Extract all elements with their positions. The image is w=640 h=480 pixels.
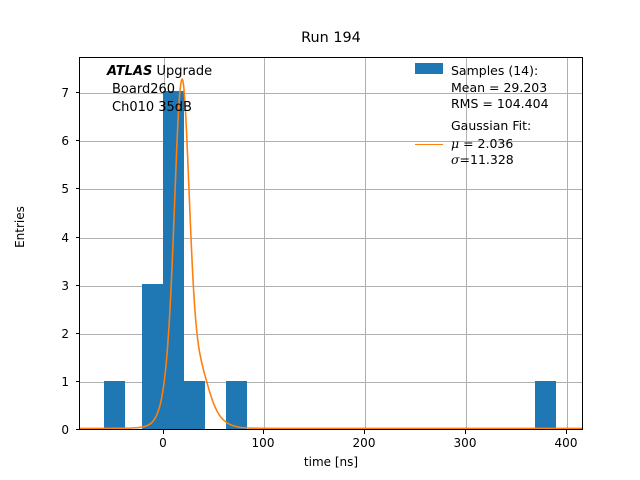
- annotation-channel-label: Ch010 35dB: [107, 99, 212, 117]
- xtick-label: 300: [454, 436, 477, 450]
- ytick-label: 4: [0, 231, 69, 245]
- legend-swatch-samples-icon: [415, 63, 443, 74]
- legend-fit-text: μ = 2.036 σ=11.328: [451, 136, 514, 169]
- ytick-mark: [76, 140, 80, 141]
- plot-axes: ATLAS Upgrade Board260 Ch010 35dB Sample…: [79, 57, 583, 430]
- ytick-label: 3: [0, 279, 69, 293]
- annotation-atlas-label: ATLAS: [107, 64, 152, 79]
- sigma-symbol: σ: [451, 152, 460, 167]
- xtick-label: 100: [252, 436, 275, 450]
- atlas-annotation: ATLAS Upgrade Board260 Ch010 35dB: [107, 63, 212, 117]
- ytick-mark: [76, 188, 80, 189]
- xtick-mark: [566, 430, 567, 434]
- annotation-upgrade-label: Upgrade: [152, 64, 212, 79]
- legend-fit-mu: μ = 2.036: [451, 136, 514, 153]
- mu-symbol: μ: [451, 136, 459, 151]
- ytick-mark: [76, 92, 80, 93]
- xtick-label: 0: [159, 436, 167, 450]
- y-axis-label: Entries: [13, 137, 27, 317]
- page-title: Run 194: [79, 30, 583, 47]
- legend-samples-rms: RMS = 104.404: [451, 96, 549, 113]
- sigma-value: =11.328: [460, 152, 514, 167]
- xtick-mark: [163, 430, 164, 434]
- legend-line-fit-icon: [415, 144, 443, 145]
- ytick-label: 6: [0, 134, 69, 148]
- ytick-mark: [76, 333, 80, 334]
- xtick-mark: [263, 430, 264, 434]
- xtick-mark: [465, 430, 466, 434]
- legend-samples-group: Samples (14): Mean = 29.203 RMS = 104.40…: [415, 63, 549, 113]
- ytick-mark: [76, 237, 80, 238]
- ytick-mark: [76, 381, 80, 382]
- legend-fit-heading: Gaussian Fit:: [451, 117, 531, 134]
- xtick-label: 200: [353, 436, 376, 450]
- legend-fit-sigma: σ=11.328: [451, 152, 514, 169]
- figure-canvas: Run 194 ATLAS Upgrade Board260 Ch: [0, 0, 640, 480]
- legend-fit-params-group: μ = 2.036 σ=11.328: [415, 136, 549, 169]
- ytick-label: 0: [0, 423, 69, 437]
- x-axis-label: time [ns]: [79, 455, 583, 469]
- chart-legend: Samples (14): Mean = 29.203 RMS = 104.40…: [415, 63, 549, 169]
- legend-samples-heading: Samples (14):: [451, 63, 549, 80]
- ytick-label: 2: [0, 327, 69, 341]
- ytick-label: 7: [0, 86, 69, 100]
- ytick-label: 1: [0, 375, 69, 389]
- legend-samples-mean: Mean = 29.203: [451, 80, 549, 97]
- annotation-board-label: Board260: [107, 81, 212, 99]
- ytick-mark: [76, 285, 80, 286]
- ytick-mark: [76, 429, 80, 430]
- mu-value: = 2.036: [459, 136, 513, 151]
- xtick-label: 400: [555, 436, 578, 450]
- legend-samples-text: Samples (14): Mean = 29.203 RMS = 104.40…: [451, 63, 549, 113]
- legend-fit-group: Gaussian Fit:: [415, 117, 549, 134]
- ytick-label: 5: [0, 182, 69, 196]
- xtick-mark: [364, 430, 365, 434]
